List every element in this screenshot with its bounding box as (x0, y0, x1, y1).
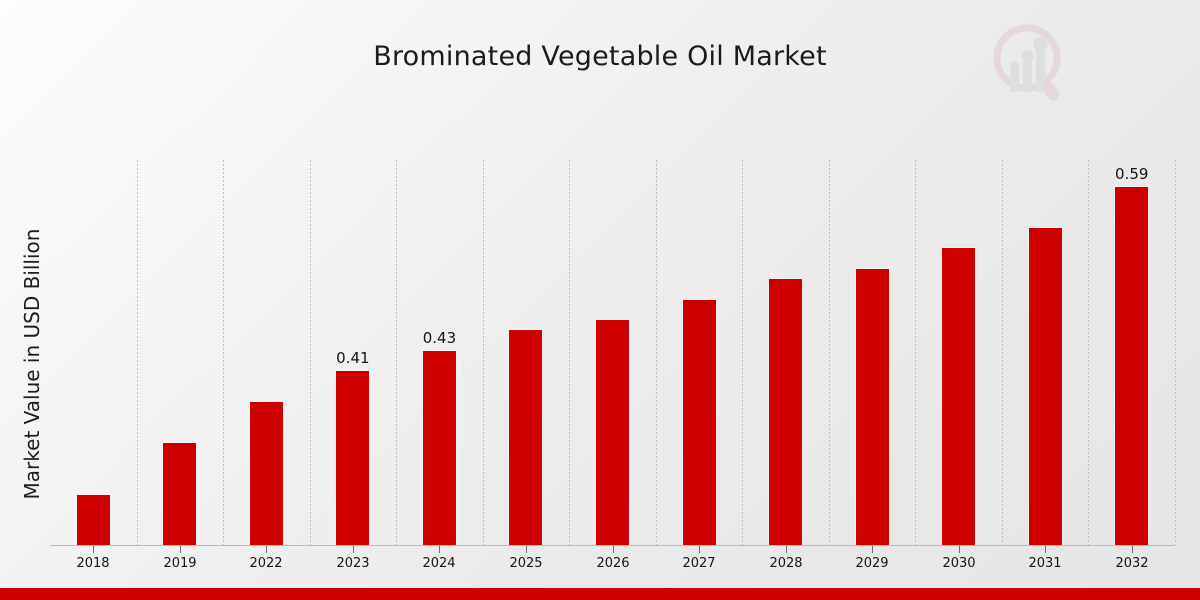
x-axis-tick-label: 2031 (1028, 556, 1061, 571)
x-axis-tick-label: 2029 (855, 556, 888, 571)
x-axis-tick (266, 546, 267, 553)
bar-rect[interactable] (162, 442, 197, 545)
x-axis-tick-label: 2032 (1115, 556, 1148, 571)
gridline (829, 160, 830, 545)
gridline (223, 160, 224, 545)
x-axis-tick (872, 546, 873, 553)
x-axis-tick-label: 2019 (163, 556, 196, 571)
bar[interactable]: 0.43 (422, 350, 457, 545)
x-axis-tick-label: 2026 (596, 556, 629, 571)
bar-rect[interactable] (941, 247, 976, 545)
chart-canvas: Brominated Vegetable Oil Market Market V… (0, 0, 1200, 600)
x-axis-tick-label: 2028 (769, 556, 802, 571)
bar[interactable] (76, 494, 111, 545)
bar-rect[interactable] (855, 268, 890, 545)
bar-value-label: 0.59 (1115, 165, 1148, 183)
bar-rect[interactable] (768, 278, 803, 545)
market-research-magnifier-logo (985, 18, 1075, 106)
x-axis-tick (959, 546, 960, 553)
bar[interactable] (682, 299, 717, 545)
x-axis-tick (786, 546, 787, 553)
gridline (742, 160, 743, 545)
bar-rect[interactable] (595, 319, 630, 545)
bar[interactable] (1028, 227, 1063, 545)
x-axis-tick (526, 546, 527, 553)
bar-rect[interactable] (508, 329, 543, 545)
gridline (1002, 160, 1003, 545)
bar-rect[interactable] (1028, 227, 1063, 545)
gridline (310, 160, 311, 545)
gridline (656, 160, 657, 545)
gridline (569, 160, 570, 545)
gridline (137, 160, 138, 545)
bar[interactable] (508, 329, 543, 545)
bar[interactable] (595, 319, 630, 545)
x-axis-tick-label: 2025 (509, 556, 542, 571)
bar-rect[interactable] (249, 401, 284, 545)
bar[interactable]: 0.59 (1114, 186, 1149, 545)
gridline (1175, 160, 1176, 545)
x-axis-tick-label: 2024 (422, 556, 455, 571)
x-axis-tick (353, 546, 354, 553)
bar[interactable] (249, 401, 284, 545)
y-axis-title: Market Value in USD Billion (20, 154, 44, 574)
gridline (915, 160, 916, 545)
x-axis-tick-label: 2023 (336, 556, 369, 571)
bar-rect[interactable] (682, 299, 717, 545)
bar[interactable] (162, 442, 197, 545)
gridline (483, 160, 484, 545)
gridline (1088, 160, 1089, 545)
bar-value-label: 0.41 (336, 349, 369, 367)
bar-rect[interactable] (76, 494, 111, 545)
bar[interactable] (768, 278, 803, 545)
x-axis-tick (439, 546, 440, 553)
x-axis-tick (1045, 546, 1046, 553)
plot-area: 2018201920220.4120230.432024202520262027… (50, 160, 1175, 546)
bar[interactable]: 0.41 (335, 370, 370, 545)
x-axis-tick-label: 2022 (249, 556, 282, 571)
bar[interactable] (941, 247, 976, 545)
x-axis-tick (699, 546, 700, 553)
bar-rect[interactable] (1114, 186, 1149, 545)
x-axis-tick (613, 546, 614, 553)
x-axis-tick (1132, 546, 1133, 553)
x-axis-tick (93, 546, 94, 553)
bar-value-label: 0.43 (423, 329, 456, 347)
x-axis-tick-label: 2027 (682, 556, 715, 571)
bar-rect[interactable] (422, 350, 457, 545)
x-axis-tick-label: 2030 (942, 556, 975, 571)
x-axis-tick (180, 546, 181, 553)
footer-accent-band (0, 588, 1200, 600)
x-axis-tick-label: 2018 (76, 556, 109, 571)
bar[interactable] (855, 268, 890, 545)
gridline (396, 160, 397, 545)
bar-rect[interactable] (335, 370, 370, 545)
